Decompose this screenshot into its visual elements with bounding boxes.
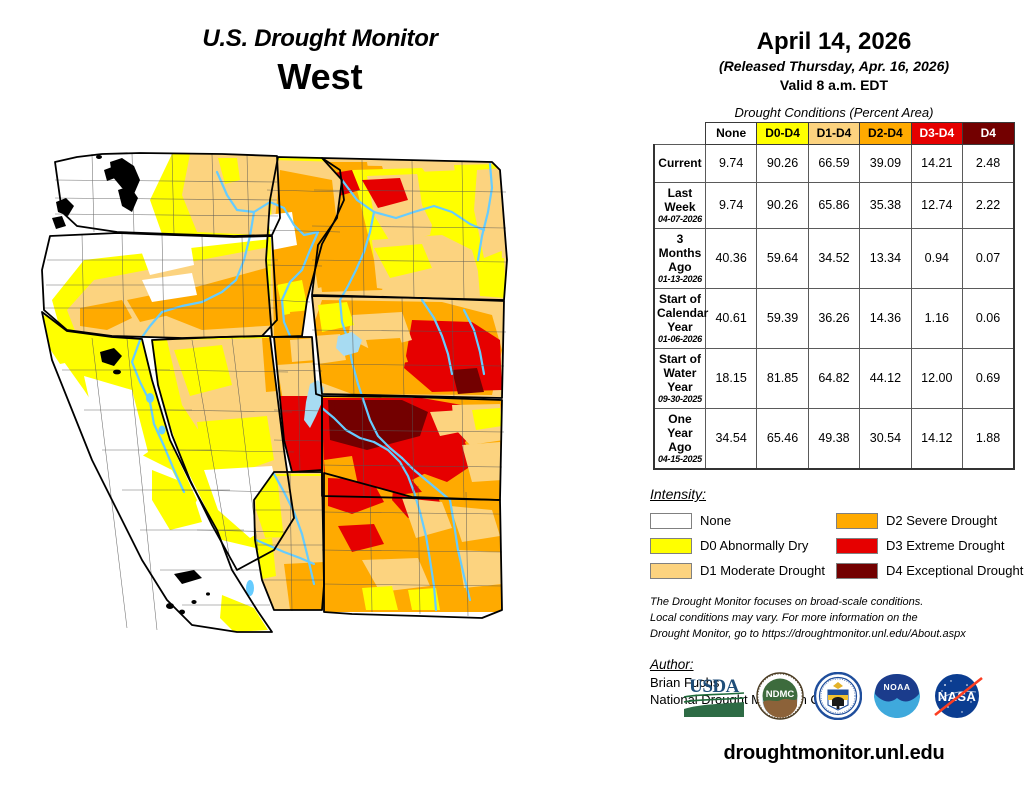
info-panel: April 14, 2026 (Released Thursday, Apr. … [644,0,1024,791]
table-cell-value: 90.26 [757,182,808,228]
legend-swatch-d1 [650,563,692,579]
table-cell-value: 59.39 [757,288,808,348]
table-cell-value: 0.94 [911,228,962,288]
table-row-label: One Year Ago04-15-2025 [654,408,705,469]
report-date: April 14, 2026 [644,28,1024,56]
table-cell-value: 44.12 [860,348,911,408]
usda-logo: USDA [682,673,746,724]
table-row-date: 01-06-2026 [657,334,703,345]
table-cell-value: 18.15 [705,348,756,408]
disclaimer-line-2: Local conditions may vary. For more info… [650,611,1024,627]
table-corner-cell [654,122,705,144]
table-cell-value: 35.38 [860,182,911,228]
disclaimer-line-1: The Drought Monitor focuses on broad-sca… [650,595,1024,611]
table-cell-value: 12.00 [911,348,962,408]
legend-swatch-none [650,513,692,529]
valid-time: Valid 8 a.m. EDT [644,76,1024,95]
table-cell-value: 14.12 [911,408,962,469]
table-cell-value: 65.86 [808,182,859,228]
legend-columns: None D0 Abnormally Dry D1 Moderate Droug… [650,508,1024,583]
release-date: (Released Thursday, Apr. 16, 2026) [644,56,1024,76]
table-cell-value: 36.26 [808,288,859,348]
table-cell-value: 66.59 [808,144,859,182]
legend-item-d1: D1 Moderate Drought [650,558,836,583]
title-block: U.S. Drought Monitor West [0,26,640,99]
svg-text:NDMC: NDMC [766,689,795,700]
legend-label-d0: D0 Abnormally Dry [700,538,808,553]
table-cell-value: 0.69 [963,348,1014,408]
legend-label-d4: D4 Exceptional Drought [886,563,1023,578]
table-cell-value: 40.61 [705,288,756,348]
table-row-label: Last Week04-07-2026 [654,182,705,228]
disclaimer-text: The Drought Monitor focuses on broad-sca… [644,595,1024,643]
table-cell-value: 0.06 [963,288,1014,348]
partner-logos: USDA NDMC [644,672,1024,725]
col-header-d3d4: D3-D4 [911,122,962,144]
table-row-label: 3 Months Ago01-13-2026 [654,228,705,288]
table-cell-value: 65.46 [757,408,808,469]
intensity-legend: Intensity: None D0 Abnormally Dry D1 Mod… [644,486,1024,583]
legend-item-d3: D3 Extreme Drought [836,533,1022,558]
table-cell-value: 39.09 [860,144,911,182]
table-cell-value: 59.64 [757,228,808,288]
table-cell-value: 1.88 [963,408,1014,469]
site-url[interactable]: droughtmonitor.unl.edu [644,742,1024,765]
drought-conditions-table: None D0-D4 D1-D4 D2-D4 D3-D4 D4 Current9… [653,122,1015,470]
table-row-label: Current [654,144,705,182]
legend-label-d3: D3 Extreme Drought [886,538,1005,553]
table-cell-value: 64.82 [808,348,859,408]
table-row-label: Start ofCalendar Year01-06-2026 [654,288,705,348]
col-header-none: None [705,122,756,144]
table-cell-value: 13.34 [860,228,911,288]
table-caption: Drought Conditions (Percent Area) [644,105,1024,120]
legend-swatch-d4 [836,563,878,579]
table-cell-value: 90.26 [757,144,808,182]
table-cell-value: 2.22 [963,182,1014,228]
table-cell-value: 34.52 [808,228,859,288]
svg-text:NOAA: NOAA [883,682,910,692]
table-row: Last Week04-07-20269.7490.2665.8635.3812… [654,182,1014,228]
col-header-d4: D4 [963,122,1014,144]
author-heading: Author: [650,657,1024,672]
drought-map-svg[interactable] [22,140,642,770]
legend-label-d2: D2 Severe Drought [886,513,997,528]
col-header-d2d4: D2-D4 [860,122,911,144]
table-row-date: 04-07-2026 [657,214,703,225]
table-cell-value: 40.36 [705,228,756,288]
nasa-logo: NASA [932,672,986,725]
legend-swatch-d0 [650,538,692,554]
table-cell-value: 9.74 [705,182,756,228]
table-cell-value: 12.74 [911,182,962,228]
table-cell-value: 1.16 [911,288,962,348]
col-header-d0d4: D0-D4 [757,122,808,144]
date-block: April 14, 2026 (Released Thursday, Apr. … [644,0,1024,95]
legend-item-d2: D2 Severe Drought [836,508,1022,533]
table-row: Start ofCalendar Year01-06-202640.6159.3… [654,288,1014,348]
table-header: None D0-D4 D1-D4 D2-D4 D3-D4 D4 [654,122,1014,144]
table-row: 3 Months Ago01-13-202640.3659.6434.5213.… [654,228,1014,288]
disclaimer-line-3: Drought Monitor, go to https://droughtmo… [650,627,1024,643]
legend-swatch-d3 [836,538,878,554]
legend-label-d1: D1 Moderate Drought [700,563,825,578]
table-row: One Year Ago04-15-202534.5465.4649.3830.… [654,408,1014,469]
noaa-logo: NOAA [872,672,922,725]
legend-title: Intensity: [650,486,1024,502]
table-cell-value: 49.38 [808,408,859,469]
table-cell-value: 2.48 [963,144,1014,182]
table-row-date: 09-30-2025 [657,394,703,405]
table-cell-value: 14.36 [860,288,911,348]
table-cell-value: 34.54 [705,408,756,469]
legend-item-none: None [650,508,836,533]
map-drought-wa [150,154,280,236]
table-header-row: None D0-D4 D1-D4 D2-D4 D3-D4 D4 [654,122,1014,144]
usda-seal-logo [814,672,862,725]
legend-swatch-d2 [836,513,878,529]
col-header-d1d4: D1-D4 [808,122,859,144]
table-cell-value: 30.54 [860,408,911,469]
region-title: West [0,54,640,99]
table-row-date: 01-13-2026 [657,274,703,285]
drought-map[interactable] [22,140,642,770]
legend-item-d0: D0 Abnormally Dry [650,533,836,558]
ndmc-logo: NDMC [756,672,804,725]
page-title: U.S. Drought Monitor [0,26,640,52]
table-cell-value: 14.21 [911,144,962,182]
legend-item-d4: D4 Exceptional Drought [836,558,1022,583]
legend-column-right: D2 Severe Drought D3 Extreme Drought D4 … [836,508,1022,583]
table-body: Current9.7490.2666.5939.0914.212.48Last … [654,144,1014,469]
table-cell-value: 81.85 [757,348,808,408]
table-cell-value: 0.07 [963,228,1014,288]
legend-label-none: None [700,513,731,528]
table-row: Current9.7490.2666.5939.0914.212.48 [654,144,1014,182]
table-cell-value: 9.74 [705,144,756,182]
table-row-date: 04-15-2025 [657,454,703,465]
legend-column-left: None D0 Abnormally Dry D1 Moderate Droug… [650,508,836,583]
table-row: Start ofWater Year09-30-202518.1581.8564… [654,348,1014,408]
table-row-label: Start ofWater Year09-30-2025 [654,348,705,408]
